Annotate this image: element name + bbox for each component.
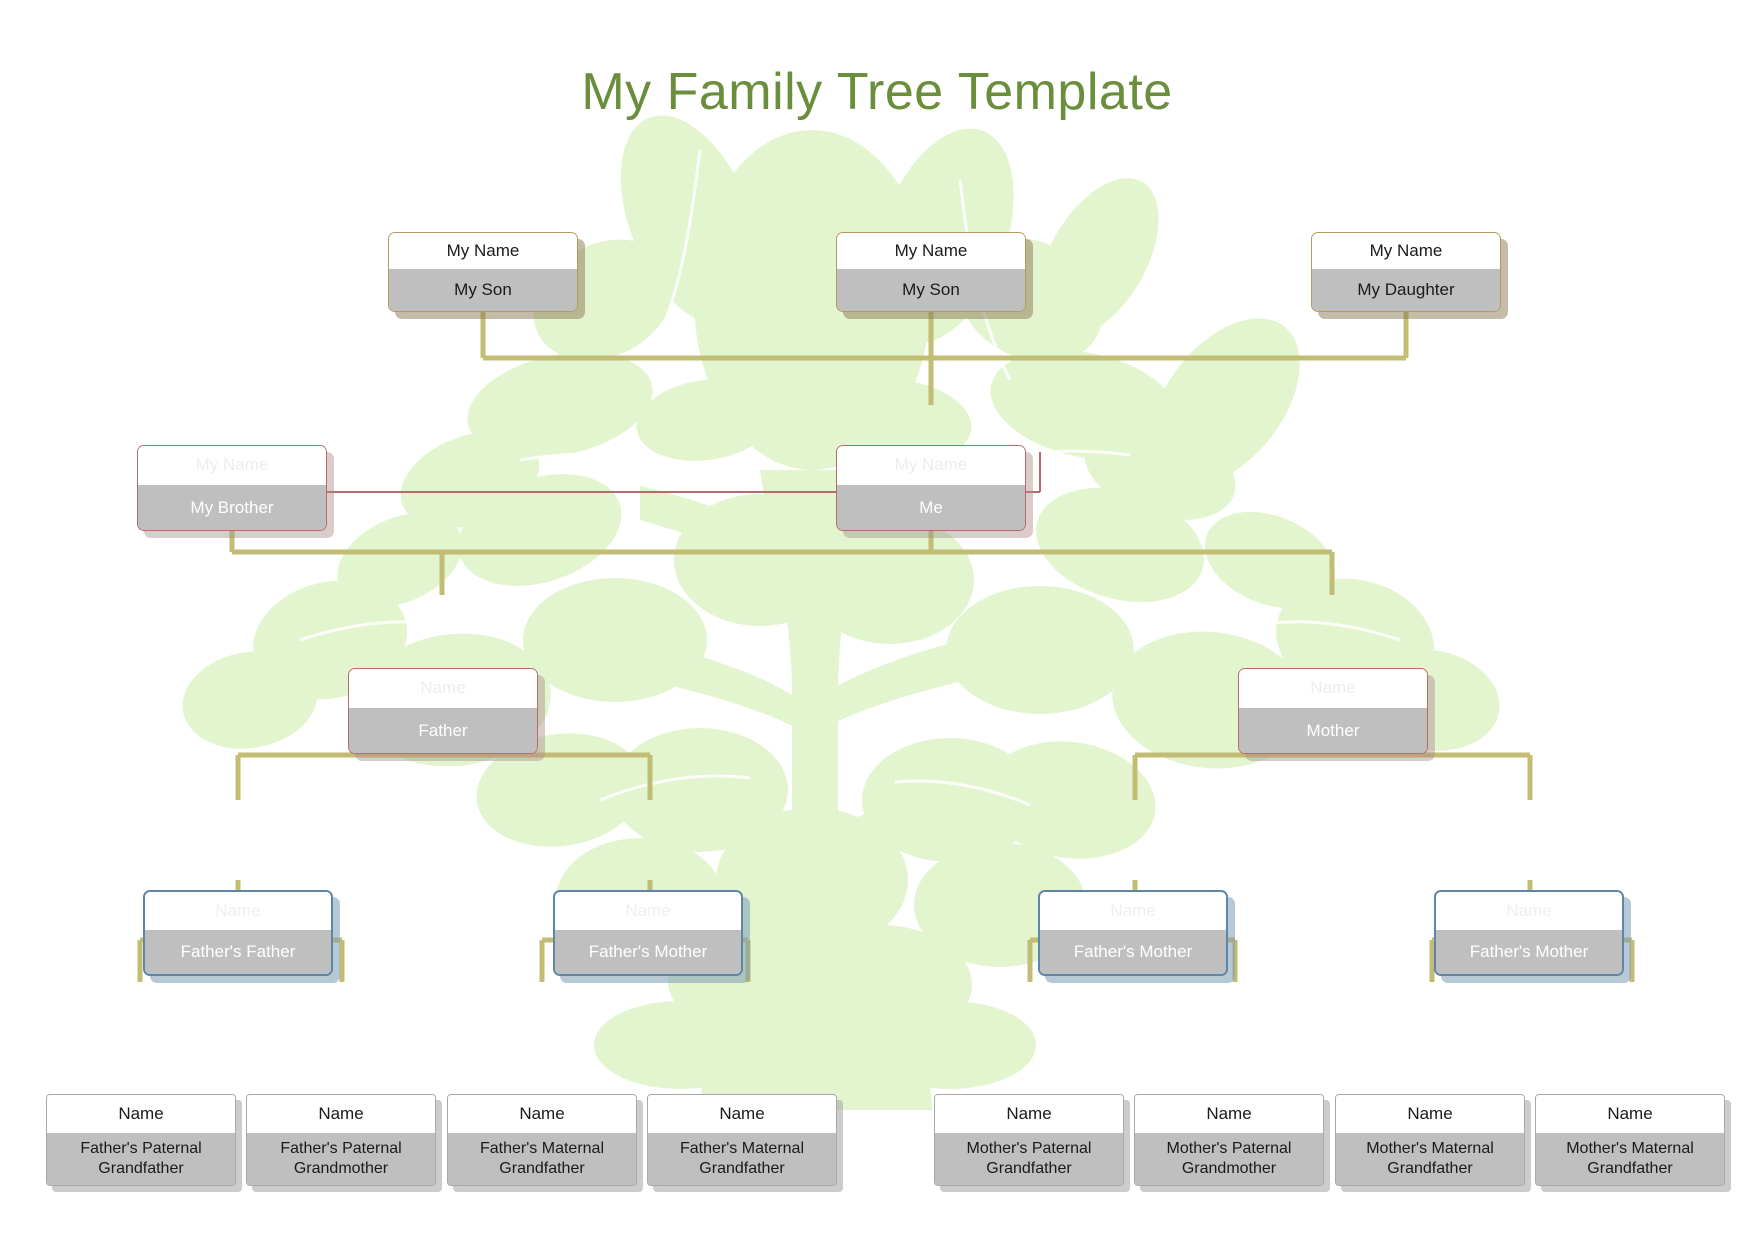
node-name-label: Name	[1135, 1095, 1323, 1133]
node-role-label: Father's Paternal Grandmother	[247, 1133, 435, 1185]
node-great-grandparent-5[interactable]: Name Mother's Paternal Grandfather	[934, 1094, 1124, 1186]
node-brother[interactable]: My Name My Brother	[137, 445, 327, 531]
node-great-grandparent-6[interactable]: Name Mother's Paternal Grandmother	[1134, 1094, 1324, 1186]
node-name-label: My Name	[138, 446, 326, 485]
node-role-label: Mother's Maternal Grandfather	[1336, 1133, 1524, 1185]
node-role-label: My Daughter	[1312, 269, 1500, 311]
node-name-label: Name	[648, 1095, 836, 1133]
node-role-label: Mother	[1239, 708, 1427, 753]
node-name-label: My Name	[837, 233, 1025, 269]
node-great-grandparent-2[interactable]: Name Father's Paternal Grandmother	[246, 1094, 436, 1186]
node-father[interactable]: Name Father	[348, 668, 538, 754]
node-mothers-father[interactable]: Name Father's Mother	[1038, 890, 1228, 976]
node-role-label: Father's Maternal Grandfather	[648, 1133, 836, 1185]
node-great-grandparent-7[interactable]: Name Mother's Maternal Grandfather	[1335, 1094, 1525, 1186]
node-great-grandparent-1[interactable]: Name Father's Paternal Grandfather	[46, 1094, 236, 1186]
node-role-label: Father's Mother	[555, 930, 741, 974]
node-me[interactable]: My Name Me	[836, 445, 1026, 531]
node-son-2[interactable]: My Name My Son	[836, 232, 1026, 312]
node-role-label: Me	[837, 485, 1025, 530]
node-role-label: Father's Mother	[1040, 930, 1226, 974]
node-name-label: My Name	[1312, 233, 1500, 269]
node-great-grandparent-8[interactable]: Name Mother's Maternal Grandfather	[1535, 1094, 1725, 1186]
node-role-label: My Son	[389, 269, 577, 311]
family-tree-canvas: My Family Tree Template My Name My Son M…	[0, 0, 1754, 1240]
node-name-label: Name	[555, 892, 741, 930]
node-name-label: Name	[145, 892, 331, 930]
node-role-label: Father's Maternal Grandfather	[448, 1133, 636, 1185]
node-great-grandparent-4[interactable]: Name Father's Maternal Grandfather	[647, 1094, 837, 1186]
node-role-label: Father's Father	[145, 930, 331, 974]
node-name-label: Name	[1436, 892, 1622, 930]
node-name-label: Name	[935, 1095, 1123, 1133]
node-name-label: Name	[349, 669, 537, 708]
node-name-label: Name	[448, 1095, 636, 1133]
connector-lines	[0, 0, 1754, 1240]
node-fathers-mother[interactable]: Name Father's Mother	[553, 890, 743, 976]
node-role-label: Mother's Maternal Grandfather	[1536, 1133, 1724, 1185]
node-name-label: Name	[1536, 1095, 1724, 1133]
node-great-grandparent-3[interactable]: Name Father's Maternal Grandfather	[447, 1094, 637, 1186]
node-role-label: Mother's Paternal Grandfather	[935, 1133, 1123, 1185]
node-name-label: Name	[1040, 892, 1226, 930]
node-mother[interactable]: Name Mother	[1238, 668, 1428, 754]
node-son-1[interactable]: My Name My Son	[388, 232, 578, 312]
node-name-label: My Name	[389, 233, 577, 269]
node-daughter[interactable]: My Name My Daughter	[1311, 232, 1501, 312]
node-role-label: Mother's Paternal Grandmother	[1135, 1133, 1323, 1185]
node-name-label: Name	[1239, 669, 1427, 708]
page-title: My Family Tree Template	[0, 62, 1754, 122]
node-fathers-father[interactable]: Name Father's Father	[143, 890, 333, 976]
node-role-label: Father	[349, 708, 537, 753]
node-name-label: My Name	[837, 446, 1025, 485]
node-mothers-mother[interactable]: Name Father's Mother	[1434, 890, 1624, 976]
node-role-label: My Brother	[138, 485, 326, 530]
node-role-label: My Son	[837, 269, 1025, 311]
node-role-label: Father's Mother	[1436, 930, 1622, 974]
node-name-label: Name	[1336, 1095, 1524, 1133]
node-name-label: Name	[47, 1095, 235, 1133]
node-name-label: Name	[247, 1095, 435, 1133]
node-role-label: Father's Paternal Grandfather	[47, 1133, 235, 1185]
